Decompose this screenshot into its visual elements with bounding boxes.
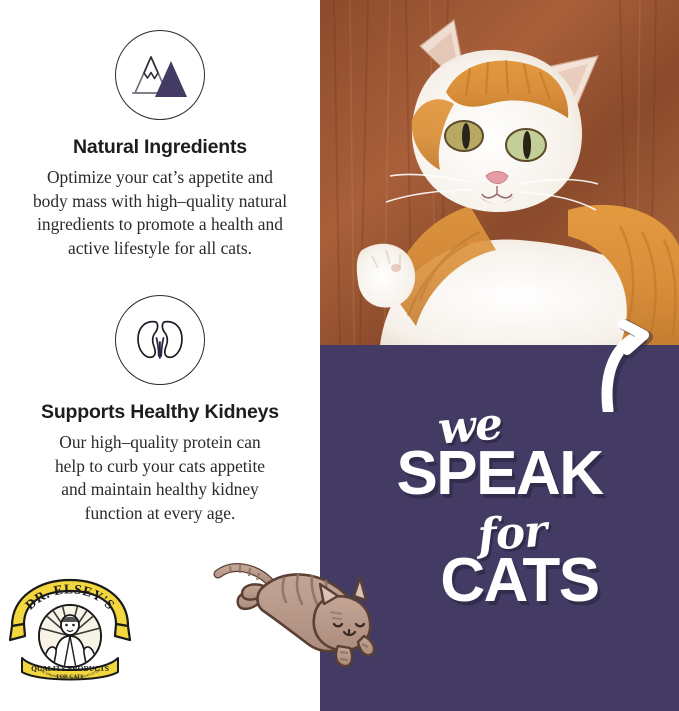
feature-body: Our high–quality protein can help to cur… — [0, 431, 320, 525]
dr-elseys-logo: DR. ELSEY'S THE UNDISPUTED LEADER IN CAT… — [8, 578, 132, 684]
cat-photo — [320, 0, 679, 345]
feature-supports-healthy-kidneys: Supports Healthy Kidneys Our high–qualit… — [0, 295, 320, 525]
body-line: active lifestyle for all cats. — [12, 237, 308, 261]
mountain-icon — [115, 30, 205, 120]
logo-tagline-sub: FOR CATS — [56, 674, 83, 680]
slogan-line-speak: SPEAK — [320, 443, 679, 505]
body-line: ingredients to promote a health and — [12, 213, 308, 237]
feature-title: Natural Ingredients — [0, 136, 320, 159]
body-line: and maintain healthy kidney — [12, 478, 308, 502]
feature-title: Supports Healthy Kidneys — [0, 401, 320, 424]
product-infographic: Natural Ingredients Optimize your cat’s … — [0, 0, 679, 711]
body-line: body mass with high–quality natural — [12, 190, 308, 214]
feature-natural-ingredients: Natural Ingredients Optimize your cat’s … — [0, 30, 320, 260]
body-line: Optimize your cat’s appetite and — [12, 166, 308, 190]
body-line: help to curb your cats appetite — [12, 455, 308, 479]
body-line: Our high–quality protein can — [12, 431, 308, 455]
leaping-tabby-cat-illustration — [212, 548, 392, 668]
feature-body: Optimize your cat’s appetite and body ma… — [0, 166, 320, 260]
body-line: function at every age. — [12, 502, 308, 526]
kidneys-icon — [115, 295, 205, 385]
logo-tagline: QUALITY PRODUCTS — [31, 664, 109, 673]
